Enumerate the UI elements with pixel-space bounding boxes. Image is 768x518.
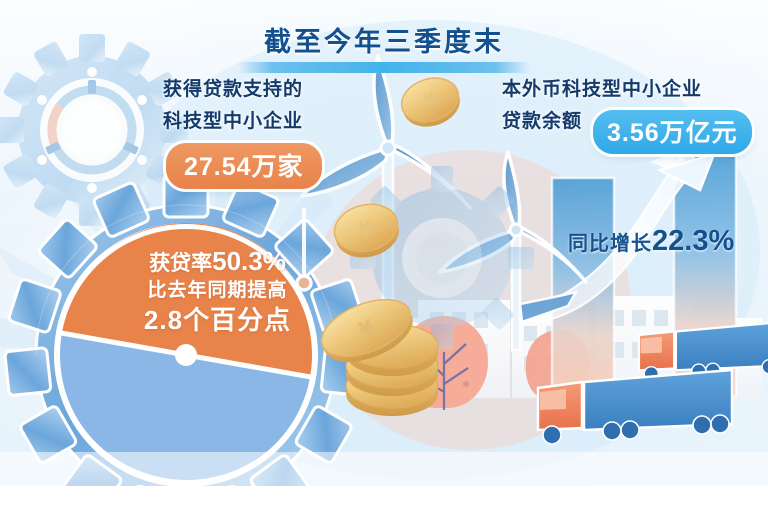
loan-balance-badge: 3.56万亿元 bbox=[593, 110, 752, 154]
left-caption-block: 获得贷款支持的 科技型中小企业 bbox=[163, 74, 303, 138]
title-text: 截至今年三季度末 bbox=[0, 20, 768, 59]
infographic-poster: ¥ ¥ ¥ bbox=[0, 0, 768, 518]
left-caption-line2: 科技型中小企业 bbox=[163, 106, 303, 138]
growth-value: 22.3% bbox=[652, 225, 734, 257]
pie-label-block: 获贷率50.3% 比去年同期提高 2.8个百分点 bbox=[110, 248, 325, 336]
growth-block: 同比增长22.3% bbox=[568, 225, 734, 258]
pie-compare-line: 比去年同期提高 bbox=[110, 277, 325, 304]
right-caption-line1: 本外币科技型中小企业 bbox=[502, 74, 702, 106]
pie-delta-line: 2.8个百分点 bbox=[110, 304, 325, 336]
growth-label: 同比增长 bbox=[568, 233, 652, 255]
left-caption-line1: 获得贷款支持的 bbox=[163, 74, 303, 106]
pie-rate-line: 获贷率50.3% bbox=[110, 248, 325, 277]
enterprises-badge: 27.54万家 bbox=[166, 143, 322, 189]
pie-rate-label: 获贷率 bbox=[149, 252, 212, 275]
page-title: 截至今年三季度末 bbox=[0, 20, 768, 59]
title-underline-bar bbox=[238, 62, 530, 73]
pie-rate-value: 50.3% bbox=[212, 246, 286, 276]
